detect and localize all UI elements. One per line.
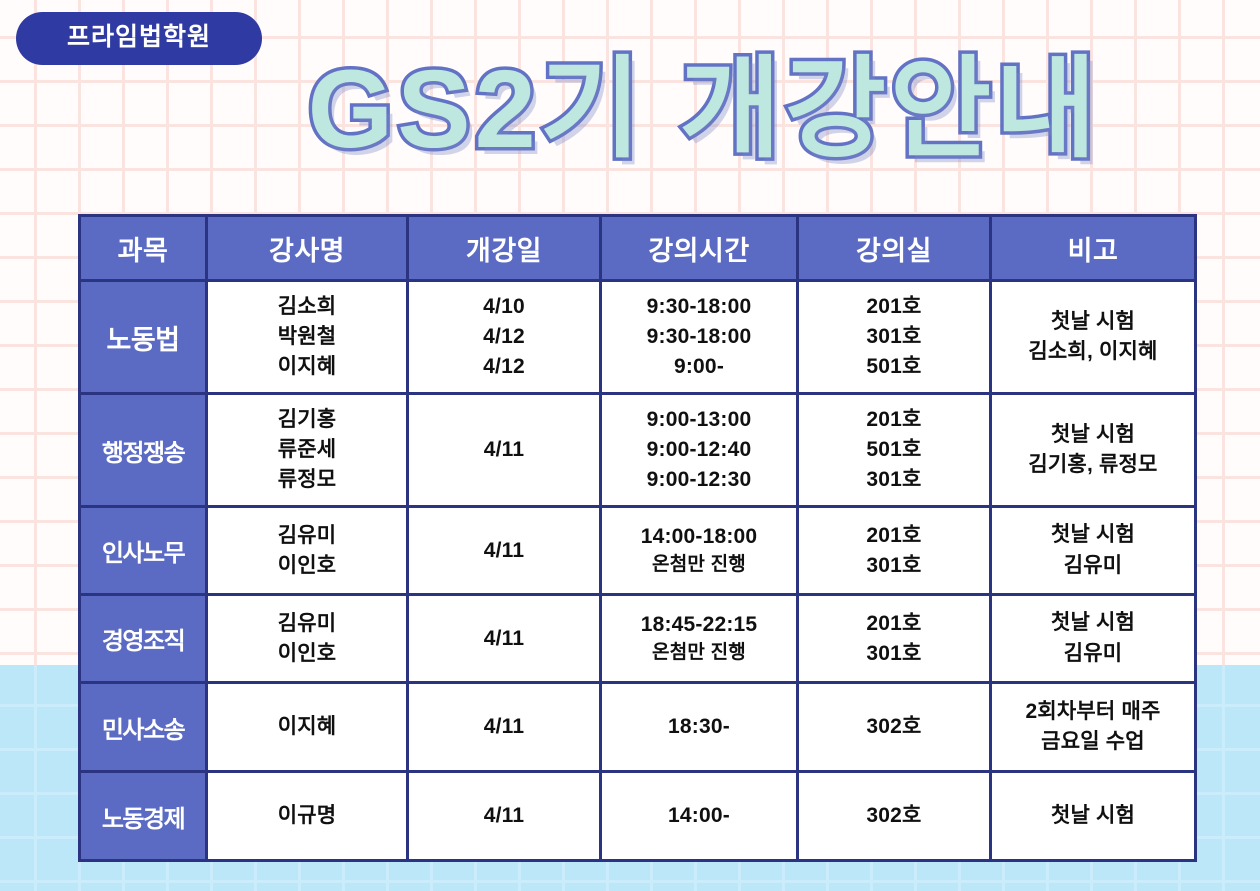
note-cell: 첫날 시험 (992, 773, 1194, 859)
time-cell-line: 9:00-12:40 (602, 435, 796, 465)
teacher-cell-line: 이지혜 (208, 352, 406, 382)
startdate-cell: 4/11 (409, 596, 599, 681)
teacher-cell-line: 김소희 (208, 292, 406, 322)
teacher-cell-line: 박원철 (208, 322, 406, 352)
startdate-cell: 4/11 (409, 684, 599, 770)
teacher-cell-line: 이인호 (208, 639, 406, 669)
note-cell-line: 금요일 수업 (992, 727, 1194, 757)
room-cell-line: 201호 (799, 405, 989, 435)
note-cell-line: 2회차부터 매주 (992, 697, 1194, 727)
brand-badge-label: 프라임법학원 (67, 25, 211, 50)
room-cell-line: 201호 (799, 292, 989, 322)
note-cell: 2회차부터 매주금요일 수업 (992, 684, 1194, 770)
room-cell: 201호501호301호 (799, 395, 989, 505)
table-row: 인사노무김유미이인호4/1114:00-18:00온첨만 진행201호301호첫… (81, 508, 1194, 593)
room-cell-line: 201호 (799, 609, 989, 639)
time-cell-line: 18:30- (602, 712, 796, 742)
column-header-startdate: 개강일 (409, 217, 599, 279)
startdate-cell: 4/11 (409, 395, 599, 505)
teacher-cell-line: 이지혜 (208, 712, 406, 742)
startdate-cell-line: 4/11 (409, 712, 599, 742)
time-cell-note: 온첨만 진행 (602, 640, 796, 667)
time-cell: 14:00- (602, 773, 796, 859)
column-header-note: 비고 (992, 217, 1194, 279)
schedule-table-head: 과목 강사명 개강일 강의시간 강의실 비고 (81, 217, 1194, 279)
table-row: 민사소송이지혜4/1118:30-302호2회차부터 매주금요일 수업 (81, 684, 1194, 770)
teacher-cell: 김기홍류준세류정모 (208, 395, 406, 505)
brand-badge: 프라임법학원 (16, 12, 262, 65)
subject-cell: 경영조직 (81, 596, 205, 681)
room-cell-line: 302호 (799, 712, 989, 742)
table-header-row: 과목 강사명 개강일 강의시간 강의실 비고 (81, 217, 1194, 279)
note-cell-line: 김소희, 이지혜 (992, 337, 1194, 367)
startdate-cell: 4/104/124/12 (409, 282, 599, 392)
time-cell: 9:30-18:009:30-18:009:00- (602, 282, 796, 392)
note-cell-line: 첫날 시험 (992, 608, 1194, 638)
subject-cell: 민사소송 (81, 684, 205, 770)
teacher-cell: 이지혜 (208, 684, 406, 770)
teacher-cell: 김유미이인호 (208, 508, 406, 593)
table-row: 행정쟁송김기홍류준세류정모4/119:00-13:009:00-12:409:0… (81, 395, 1194, 505)
time-cell-line: 14:00- (602, 801, 796, 831)
note-cell: 첫날 시험김유미 (992, 596, 1194, 681)
time-cell: 14:00-18:00온첨만 진행 (602, 508, 796, 593)
note-cell-line: 첫날 시험 (992, 307, 1194, 337)
column-header-time: 강의시간 (602, 217, 796, 279)
time-cell-line: 9:30-18:00 (602, 292, 796, 322)
room-cell-line: 201호 (799, 521, 989, 551)
room-cell-line: 301호 (799, 322, 989, 352)
column-header-teacher: 강사명 (208, 217, 406, 279)
teacher-cell: 김유미이인호 (208, 596, 406, 681)
subject-cell: 인사노무 (81, 508, 205, 593)
note-cell: 첫날 시험김기홍, 류정모 (992, 395, 1194, 505)
subject-cell: 행정쟁송 (81, 395, 205, 505)
teacher-cell-line: 김기홍 (208, 405, 406, 435)
room-cell-line: 501호 (799, 352, 989, 382)
column-header-subject: 과목 (81, 217, 205, 279)
room-cell: 201호301호501호 (799, 282, 989, 392)
room-cell: 302호 (799, 684, 989, 770)
note-cell: 첫날 시험김유미 (992, 508, 1194, 593)
schedule-table-container: 과목 강사명 개강일 강의시간 강의실 비고 노동법김소희박원철이지혜4/104… (78, 214, 1182, 862)
time-cell-line: 9:00- (602, 352, 796, 382)
teacher-cell-line: 류준세 (208, 435, 406, 465)
teacher-cell-line: 류정모 (208, 465, 406, 495)
subject-cell: 노동법 (81, 282, 205, 392)
time-cell-line: 9:30-18:00 (602, 322, 796, 352)
note-cell-line: 첫날 시험 (992, 801, 1194, 831)
room-cell-line: 301호 (799, 465, 989, 495)
room-cell-line: 301호 (799, 551, 989, 581)
poster-canvas: 프라임법학원 GS2기 개강안내 과목 강사명 개강일 강의시간 강의실 (0, 0, 1260, 891)
teacher-cell-line: 이규명 (208, 801, 406, 831)
teacher-cell: 이규명 (208, 773, 406, 859)
schedule-table-body: 노동법김소희박원철이지혜4/104/124/129:30-18:009:30-1… (81, 282, 1194, 859)
note-cell-line: 첫날 시험 (992, 420, 1194, 450)
room-cell: 201호301호 (799, 508, 989, 593)
startdate-cell: 4/11 (409, 773, 599, 859)
note-cell-line: 김유미 (992, 551, 1194, 581)
note-cell-line: 첫날 시험 (992, 520, 1194, 550)
subject-cell: 노동경제 (81, 773, 205, 859)
time-cell-line: 14:00-18:00 (602, 522, 796, 552)
table-row: 노동법김소희박원철이지혜4/104/124/129:30-18:009:30-1… (81, 282, 1194, 392)
time-cell-line: 9:00-12:30 (602, 465, 796, 495)
startdate-cell-line: 4/11 (409, 435, 599, 465)
teacher-cell-line: 김유미 (208, 521, 406, 551)
startdate-cell-line: 4/10 (409, 292, 599, 322)
column-header-room: 강의실 (799, 217, 989, 279)
startdate-cell: 4/11 (409, 508, 599, 593)
time-cell: 18:45-22:15온첨만 진행 (602, 596, 796, 681)
time-cell: 18:30- (602, 684, 796, 770)
note-cell-line: 김기홍, 류정모 (992, 450, 1194, 480)
time-cell: 9:00-13:009:00-12:409:00-12:30 (602, 395, 796, 505)
schedule-table: 과목 강사명 개강일 강의시간 강의실 비고 노동법김소희박원철이지혜4/104… (78, 214, 1197, 862)
room-cell-line: 501호 (799, 435, 989, 465)
time-cell-line: 9:00-13:00 (602, 405, 796, 435)
table-row: 노동경제이규명4/1114:00-302호첫날 시험 (81, 773, 1194, 859)
startdate-cell-line: 4/12 (409, 352, 599, 382)
teacher-cell-line: 이인호 (208, 551, 406, 581)
startdate-cell-line: 4/12 (409, 322, 599, 352)
startdate-cell-line: 4/11 (409, 536, 599, 566)
room-cell: 201호301호 (799, 596, 989, 681)
startdate-cell-line: 4/11 (409, 801, 599, 831)
time-cell-note: 온첨만 진행 (602, 552, 796, 579)
table-row: 경영조직김유미이인호4/1118:45-22:15온첨만 진행201호301호첫… (81, 596, 1194, 681)
time-cell-line: 18:45-22:15 (602, 610, 796, 640)
teacher-cell: 김소희박원철이지혜 (208, 282, 406, 392)
room-cell-line: 302호 (799, 801, 989, 831)
room-cell: 302호 (799, 773, 989, 859)
teacher-cell-line: 김유미 (208, 609, 406, 639)
startdate-cell-line: 4/11 (409, 624, 599, 654)
note-cell: 첫날 시험김소희, 이지혜 (992, 282, 1194, 392)
room-cell-line: 301호 (799, 639, 989, 669)
note-cell-line: 김유미 (992, 639, 1194, 669)
